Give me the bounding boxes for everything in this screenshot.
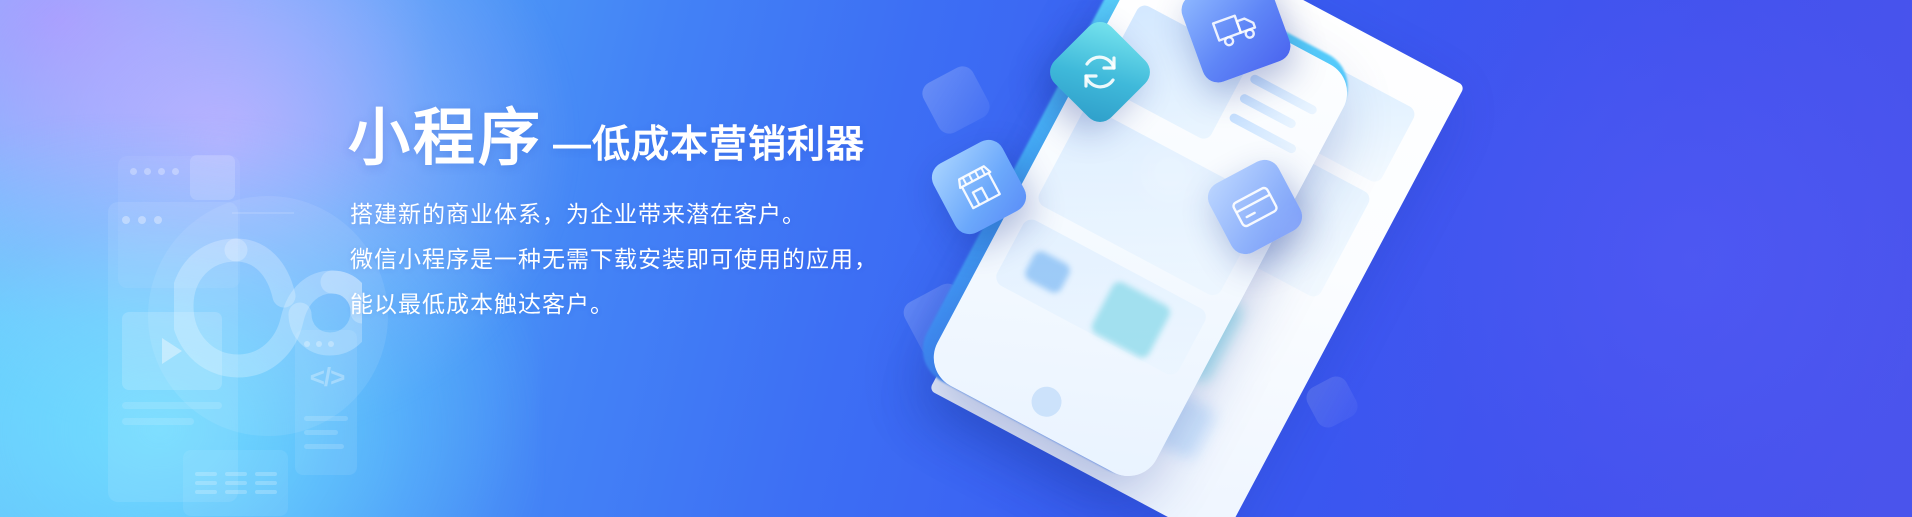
page-title: 小程序: [348, 108, 543, 170]
list-column: [195, 472, 217, 499]
phone-device: [895, 0, 1430, 517]
code-line: [304, 430, 338, 435]
floating-cube: [1302, 372, 1362, 432]
list-column: [255, 472, 277, 499]
description-line: 搭建新的商业体系，为企业带来潜在客户。: [350, 198, 878, 230]
code-card-dots: [304, 341, 334, 347]
code-line: [304, 444, 344, 449]
media-line: [122, 418, 194, 425]
watermark-list-card: [183, 450, 288, 516]
media-thumbnail: [122, 312, 222, 390]
banner-description: 搭建新的商业体系，为企业带来潜在客户。 微信小程序是一种无需下载安装即可使用的应…: [350, 198, 878, 333]
list-column: [225, 472, 247, 499]
watermark-square: [190, 155, 235, 200]
description-line: 能以最低成本触达客户。: [350, 288, 878, 320]
phone-home-button: [1026, 381, 1067, 422]
code-line: [304, 416, 348, 421]
watermark-connector-line: [232, 212, 294, 214]
watermark-window-card: [118, 156, 240, 288]
media-card-dots: [122, 216, 162, 224]
play-icon: [162, 338, 182, 364]
banner-copy: 小程序 —低成本营销利器 搭建新的商业体系，为企业带来潜在客户。 微信小程序是一…: [348, 0, 948, 517]
window-dots: [130, 168, 179, 175]
banner-heading: 小程序 —低成本营销利器: [348, 108, 865, 170]
media-line: [122, 402, 222, 409]
phone-illustration: [880, 0, 1912, 517]
floating-cube: [918, 62, 994, 138]
page-subtitle: —低成本营销利器: [553, 125, 865, 170]
code-bracket-icon: </>: [303, 362, 351, 393]
description-line: 微信小程序是一种无需下载安装即可使用的应用，: [350, 243, 878, 275]
wechat-miniprogram-logo: [174, 226, 362, 406]
promo-banner: </> 小程序 —低成本营销利器 搭建新的商业体系，为企业带来潜在客户。 微信小…: [0, 0, 1912, 517]
watermark-media-card: [108, 202, 238, 502]
